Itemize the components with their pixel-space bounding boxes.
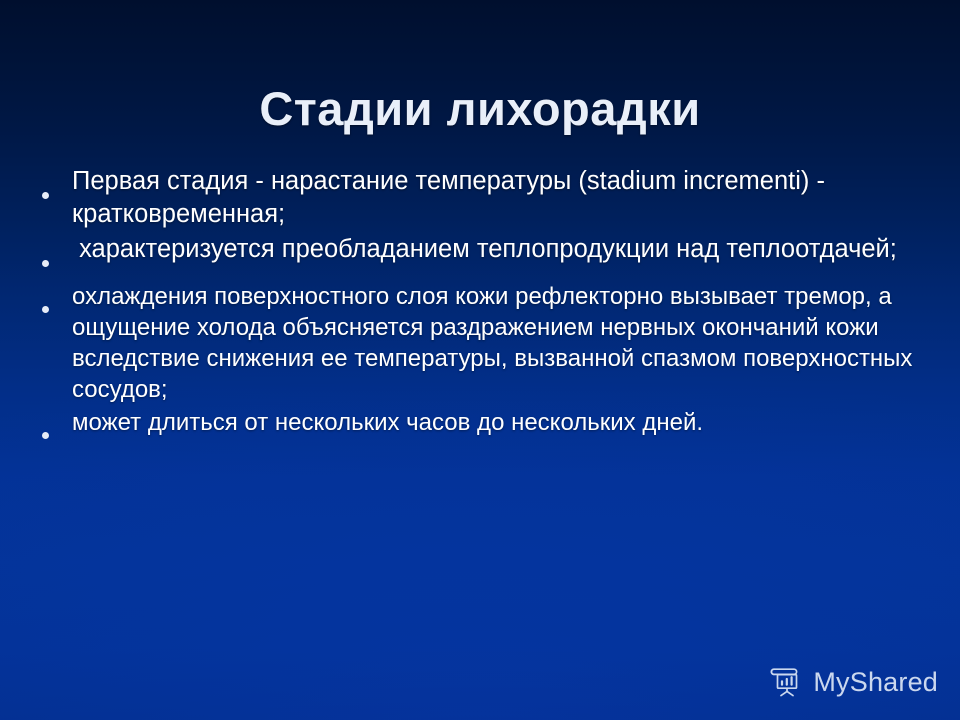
bullet-dot-icon (42, 233, 72, 279)
list-item: характеризуется преобладанием теплопроду… (42, 233, 922, 279)
bullet-text: Первая стадия - нарастание температуры (… (72, 165, 922, 231)
list-item: охлаждения поверхностного слоя кожи рефл… (42, 281, 922, 405)
bullet-dot-icon (42, 165, 72, 211)
myshared-label: MyShared (813, 667, 938, 698)
presentation-slide: Стадии лихорадки Первая стадия - нараста… (0, 0, 960, 720)
bullet-text: может длиться от нескольких часов до нес… (72, 407, 922, 438)
bullet-text: охлаждения поверхностного слоя кожи рефл… (72, 281, 922, 405)
slide-title: Стадии лихорадки (0, 83, 960, 135)
slide-body: Первая стадия - нарастание температуры (… (42, 165, 922, 450)
bullet-dot-icon (42, 407, 72, 450)
bullet-text: характеризуется преобладанием теплопроду… (72, 233, 922, 266)
list-item: Первая стадия - нарастание температуры (… (42, 165, 922, 231)
presentation-board-chart-icon (770, 666, 804, 698)
list-item: может длиться от нескольких часов до нес… (42, 407, 922, 450)
myshared-watermark: MyShared (770, 666, 938, 698)
bullet-dot-icon (42, 281, 72, 324)
